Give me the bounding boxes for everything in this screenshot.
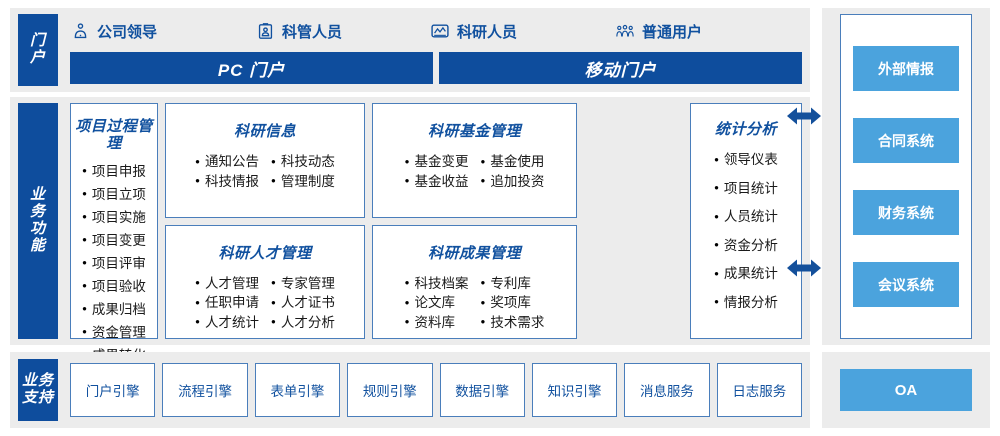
support-label-line-1: 业务 [22,373,54,390]
support-chip-rule-engine[interactable]: 规则引擎 [347,363,432,417]
list-item[interactable]: 科技档案 [405,277,469,291]
role-item-company-leader[interactable]: 公司领导 [70,21,255,42]
list-item[interactable]: 任职申请 [195,296,259,310]
info-columns: 通知公告 科技情报 科技动态 管理制度 [195,155,335,194]
support-label-line-2: 支持 [22,390,54,407]
card-research-information[interactable]: 科研信息 通知公告 科技情报 科技动态 管理制度 [165,103,365,218]
support-chip-data-engine[interactable]: 数据引擎 [440,363,525,417]
func-label-char-1: 业 [30,187,46,204]
list-item[interactable]: 领导仪表 [714,153,778,167]
list-item[interactable]: 资金管理 [82,326,146,340]
external-item-intelligence[interactable]: 外部情报 [853,46,959,91]
card-title: 科研基金管理 [428,120,521,141]
role-item-general-user[interactable]: 普通用户 [615,21,702,42]
user-group-icon [615,21,635,41]
list-item[interactable]: 基金收益 [405,175,469,189]
portal-bar-pc[interactable]: PC 门户 [70,52,433,84]
func-label-char-3: 功 [30,221,46,238]
list-item[interactable]: 人才管理 [195,277,259,291]
card-research-fund-management[interactable]: 科研基金管理 基金变更 基金收益 基金使用 追加投资 [372,103,577,218]
talent-column-2: 专家管理 人才证书 人才分析 [271,277,335,336]
list-item[interactable]: 专家管理 [271,277,335,291]
talent-column-1: 人才管理 任职申请 人才统计 [195,277,259,336]
portal-bar-mobile[interactable]: 移动门户 [439,52,802,84]
portal-label-char-1: 门 [30,33,46,50]
role-item-research-admin[interactable]: 科管人员 [255,21,430,42]
result-columns: 科技档案 论文库 资料库 专利库 奖项库 技术需求 [405,277,545,336]
list-item[interactable]: 科技动态 [271,155,335,169]
chart-monitor-icon [430,21,450,41]
list-item[interactable]: 项目验收 [82,280,146,294]
card-project-process-management[interactable]: 项目过程管理 项目申报 项目立项 项目实施 项目变更 项目评审 项目验收 成果归… [70,103,158,339]
portal-bar-group: PC 门户 移动门户 [70,52,802,84]
id-badge-icon [255,21,275,41]
double-arrow-icon-top [786,105,822,127]
list-item[interactable]: 追加投资 [481,175,545,189]
list-item[interactable]: 论文库 [405,296,469,310]
role-label-researcher: 科研人员 [457,21,517,42]
list-item[interactable]: 项目实施 [82,211,146,225]
middle-card-row-top: 科研信息 通知公告 科技情报 科技动态 管理制度 科研基金管理 [165,103,683,218]
business-support-section-label: 业务 支持 [18,359,58,421]
list-item[interactable]: 项目统计 [714,182,778,196]
card-statistical-analysis[interactable]: 统计分析 领导仪表 项目统计 人员统计 资金分析 成果统计 情报分析 [690,103,802,339]
card-title: 科研人才管理 [218,242,311,263]
func-label-char-2: 务 [30,204,46,221]
stats-item-list: 领导仪表 项目统计 人员统计 资金分析 成果统计 情报分析 [714,153,778,324]
support-chip-form-engine[interactable]: 表单引擎 [255,363,340,417]
external-item-finance-system[interactable]: 财务系统 [853,190,959,235]
function-card-area: 项目过程管理 项目申报 项目立项 项目实施 项目变更 项目评审 项目验收 成果归… [70,103,802,339]
external-item-meeting-system[interactable]: 会议系统 [853,262,959,307]
list-item[interactable]: 基金使用 [481,155,545,169]
external-item-contract-system[interactable]: 合同系统 [853,118,959,163]
portal-label-char-2: 户 [30,50,46,67]
list-item[interactable]: 管理制度 [271,175,335,189]
card-research-talent-management[interactable]: 科研人才管理 人才管理 任职申请 人才统计 专家管理 人才证书 人才分析 [165,225,365,340]
support-chip-row: 门户引擎 流程引擎 表单引擎 规则引擎 数据引擎 知识引擎 消息服务 日志服务 [70,363,802,417]
external-item-oa[interactable]: OA [840,369,972,411]
support-chip-portal-engine[interactable]: 门户引擎 [70,363,155,417]
list-item[interactable]: 人才分析 [271,316,335,330]
list-item[interactable]: 资料库 [405,316,469,330]
middle-card-stack: 科研信息 通知公告 科技情报 科技动态 管理制度 科研基金管理 [165,103,683,339]
list-item[interactable]: 科技情报 [195,175,259,189]
result-column-1: 科技档案 论文库 资料库 [405,277,469,336]
card-title: 科研信息 [234,120,296,141]
role-list: 公司领导 科管人员 科研人员 [70,14,802,48]
middle-card-row-bottom: 科研人才管理 人才管理 任职申请 人才统计 专家管理 人才证书 人才分析 [165,225,683,340]
architecture-diagram: 门 户 公司领导 科管人员 [0,0,1000,436]
support-chip-message-service[interactable]: 消息服务 [624,363,709,417]
project-item-list: 项目申报 项目立项 项目实施 项目变更 项目评审 项目验收 成果归档 资金管理 … [82,165,146,372]
list-item[interactable]: 专利库 [481,277,545,291]
support-chip-knowledge-engine[interactable]: 知识引擎 [532,363,617,417]
card-title: 科研成果管理 [428,242,521,263]
support-chip-log-service[interactable]: 日志服务 [717,363,802,417]
list-item[interactable]: 情报分析 [714,296,778,310]
business-function-section-label: 业 务 功 能 [18,103,58,339]
role-label-company-leader: 公司领导 [97,21,157,42]
fund-columns: 基金变更 基金收益 基金使用 追加投资 [405,155,545,194]
list-item[interactable]: 人员统计 [714,210,778,224]
list-item[interactable]: 资金分析 [714,239,778,253]
list-item[interactable]: 通知公告 [195,155,259,169]
list-item[interactable]: 基金变更 [405,155,469,169]
func-label-char-4: 能 [30,238,46,255]
double-arrow-icon-bottom [786,257,822,279]
list-item[interactable]: 奖项库 [481,296,545,310]
external-systems-box: 外部情报 合同系统 财务系统 会议系统 [840,14,972,339]
list-item[interactable]: 项目立项 [82,188,146,202]
role-label-research-admin: 科管人员 [282,21,342,42]
role-item-researcher[interactable]: 科研人员 [430,21,615,42]
user-person-icon [70,21,90,41]
list-item[interactable]: 技术需求 [481,316,545,330]
info-column-2: 科技动态 管理制度 [271,155,335,194]
list-item[interactable]: 项目变更 [82,234,146,248]
list-item[interactable]: 人才统计 [195,316,259,330]
info-column-1: 通知公告 科技情报 [195,155,259,194]
talent-columns: 人才管理 任职申请 人才统计 专家管理 人才证书 人才分析 [195,277,335,336]
support-chip-process-engine[interactable]: 流程引擎 [162,363,247,417]
portal-section-label: 门 户 [18,14,58,86]
card-title: 项目过程管理 [72,118,156,153]
list-item[interactable]: 成果统计 [714,267,778,281]
list-item[interactable]: 项目申报 [82,165,146,179]
fund-column-2: 基金使用 追加投资 [481,155,545,194]
list-item[interactable]: 成果归档 [82,303,146,317]
card-research-achievement-management[interactable]: 科研成果管理 科技档案 论文库 资料库 专利库 奖项库 技术需求 [372,225,577,340]
fund-column-1: 基金变更 基金收益 [405,155,469,194]
role-label-general-user: 普通用户 [642,21,702,42]
card-title: 统计分析 [715,118,777,139]
result-column-2: 专利库 奖项库 技术需求 [481,277,545,336]
list-item[interactable]: 项目评审 [82,257,146,271]
list-item[interactable]: 人才证书 [271,296,335,310]
